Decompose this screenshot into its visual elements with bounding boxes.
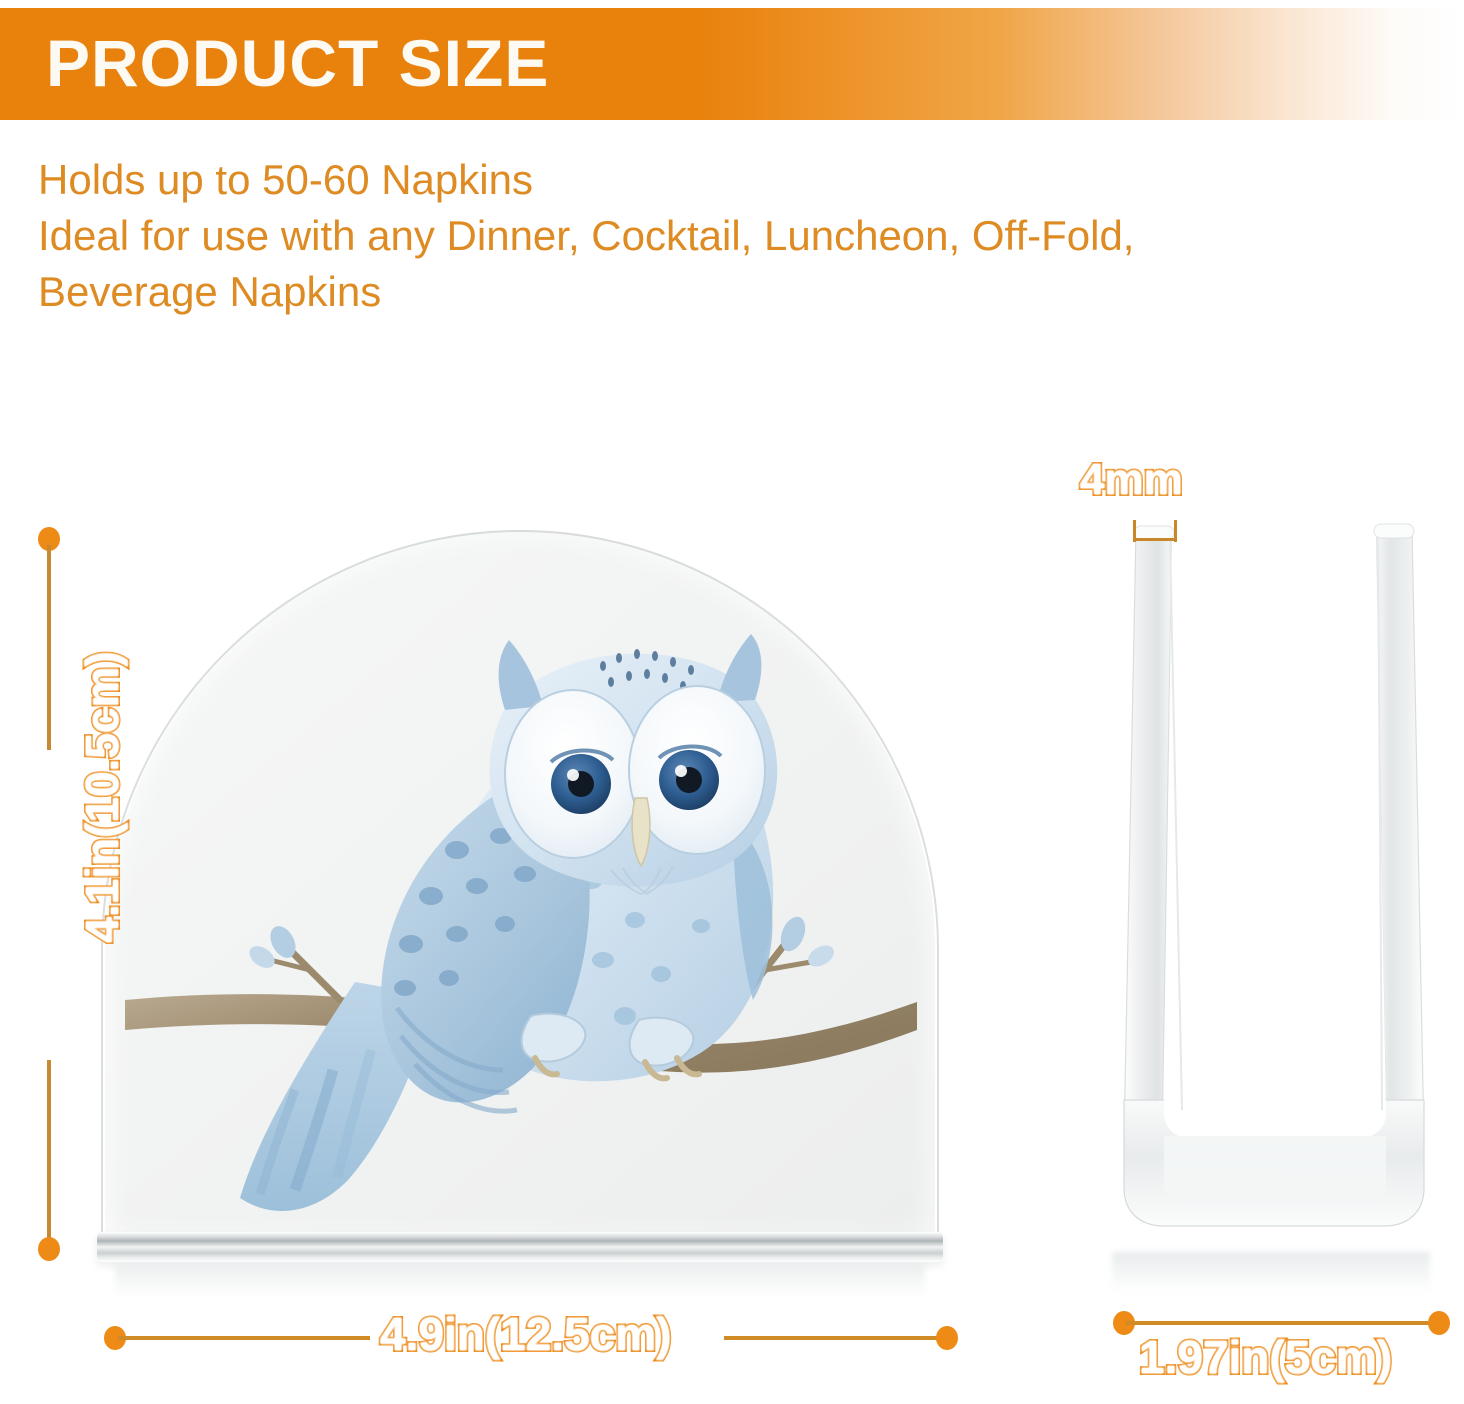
width-dim-dot-right [936,1326,958,1350]
panel-reflection [115,1264,925,1298]
acrylic-base-strip [97,1232,943,1262]
width-dim-line-right [724,1336,942,1340]
description-line-2: Ideal for use with any Dinner, Cocktail,… [38,208,1428,264]
owl-artwork-icon [105,530,935,1242]
acrylic-u-holder-side [1090,500,1450,1290]
height-dim-line-upper [47,545,51,750]
page-title: PRODUCT SIZE [46,28,549,98]
depth-dim-dot-right [1428,1311,1450,1335]
u-holder-left-arm [1124,530,1172,1140]
description-line-3: Beverage Napkins [38,264,1428,320]
depth-dim-line [1126,1321,1438,1325]
u-holder-shape-icon [1090,500,1450,1260]
u-holder-reflection [1112,1252,1430,1292]
height-dim-label: 4.1in(10.5cm) [75,632,129,962]
thickness-dim-label: 4mm [1080,455,1183,505]
depth-dim-label: 1.97in(5cm) [1139,1330,1392,1384]
product-stage [0,430,1464,1404]
thickness-caliper-icon [1133,520,1177,542]
description-line-1: Holds up to 50-60 Napkins [38,152,1428,208]
product-description: Holds up to 50-60 Napkins Ideal for use … [38,152,1428,320]
width-dim-label: 4.9in(12.5cm) [380,1307,671,1361]
arch-napkin-holder-front [105,530,935,1250]
width-dim-line-left [118,1336,370,1340]
height-dim-dot-bottom [38,1237,60,1261]
height-dim-line-lower [47,1060,51,1250]
header-banner: PRODUCT SIZE [0,8,1464,120]
